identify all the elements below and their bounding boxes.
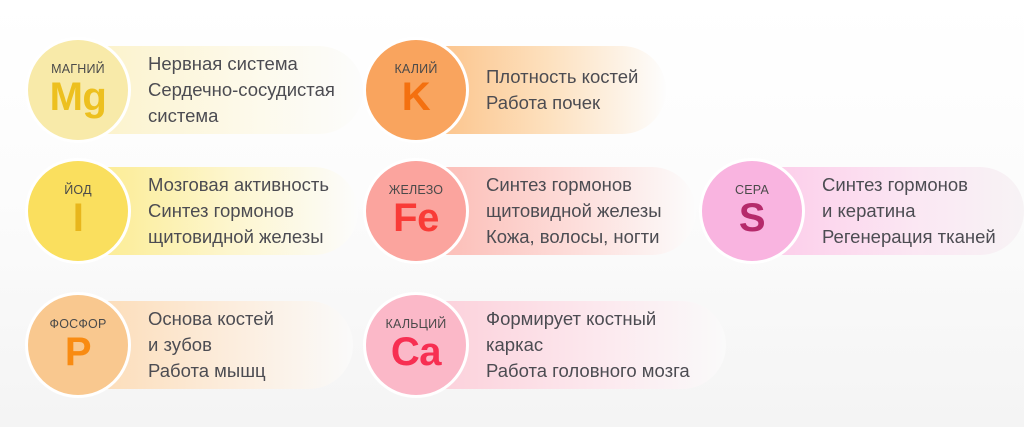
mineral-card-iron: ЖЕЛЕЗО Fe Синтез гормонов щитовидной жел… <box>366 161 662 261</box>
element-name: ЖЕЛЕЗО <box>389 184 443 197</box>
mineral-card-potassium: КАЛИЙ K Плотность костей Работа почек <box>366 40 638 140</box>
element-symbol: Ca <box>391 332 441 372</box>
benefit-line: Мозговая активность <box>148 172 329 198</box>
element-badge-iron: ЖЕЛЕЗО Fe <box>366 161 466 261</box>
element-symbol: P <box>65 332 91 372</box>
element-badge-magnesium: МАГНИЙ Mg <box>28 40 128 140</box>
benefit-list: Основа костей и зубов Работа мышц <box>148 306 274 385</box>
benefit-line: щитовидной железы <box>148 224 329 250</box>
benefit-line: Плотность костей <box>486 64 638 90</box>
element-symbol: S <box>739 198 765 238</box>
benefit-line: и кератина <box>822 198 996 224</box>
benefit-line: Формирует костный <box>486 306 690 332</box>
element-symbol: Mg <box>50 77 107 117</box>
mineral-card-sulfur: СЕРА S Синтез гормонов и кератина Регене… <box>702 161 996 261</box>
mineral-card-iodine: ЙОД I Мозговая активность Синтез гормоно… <box>28 161 329 261</box>
element-symbol: Fe <box>393 198 439 238</box>
benefit-list: Синтез гормонов и кератина Регенерация т… <box>822 172 996 251</box>
benefit-list: Синтез гормонов щитовидной железы Кожа, … <box>486 172 662 251</box>
element-name: ФОСФОР <box>49 318 106 331</box>
element-name: СЕРА <box>735 184 769 197</box>
element-symbol: I <box>73 198 84 238</box>
mineral-benefits-infographic: МАГНИЙ Mg Нервная система Сердечно-сосуд… <box>0 0 1024 427</box>
element-symbol: K <box>402 77 430 117</box>
mineral-card-magnesium: МАГНИЙ Mg Нервная система Сердечно-сосуд… <box>28 40 335 140</box>
benefit-line: Нервная система <box>148 51 335 77</box>
benefit-line: Работа почек <box>486 90 638 116</box>
benefit-line: Синтез гормонов <box>148 198 329 224</box>
benefit-line: Регенерация тканей <box>822 224 996 250</box>
benefit-line: Работа мышц <box>148 358 274 384</box>
element-badge-sulfur: СЕРА S <box>702 161 802 261</box>
benefit-line: Работа головного мозга <box>486 358 690 384</box>
benefit-line: Сердечно-сосудистая <box>148 77 335 103</box>
benefit-line: и зубов <box>148 332 274 358</box>
element-name: ЙОД <box>64 184 92 197</box>
element-badge-iodine: ЙОД I <box>28 161 128 261</box>
mineral-card-phosphorus: ФОСФОР P Основа костей и зубов Работа мы… <box>28 295 274 395</box>
benefit-list: Плотность костей Работа почек <box>486 64 638 117</box>
element-badge-potassium: КАЛИЙ K <box>366 40 466 140</box>
benefit-line: Основа костей <box>148 306 274 332</box>
mineral-card-calcium: КАЛЬЦИЙ Ca Формирует костный каркас Рабо… <box>366 295 690 395</box>
element-name: МАГНИЙ <box>51 63 105 76</box>
benefit-list: Нервная система Сердечно-сосудистая сист… <box>148 51 335 130</box>
benefit-line: Синтез гормонов <box>822 172 996 198</box>
element-badge-calcium: КАЛЬЦИЙ Ca <box>366 295 466 395</box>
element-badge-phosphorus: ФОСФОР P <box>28 295 128 395</box>
element-name: КАЛЬЦИЙ <box>386 318 447 331</box>
benefit-line: Синтез гормонов <box>486 172 662 198</box>
element-name: КАЛИЙ <box>394 63 437 76</box>
benefit-line: Кожа, волосы, ногти <box>486 224 662 250</box>
benefit-list: Мозговая активность Синтез гормонов щито… <box>148 172 329 251</box>
benefit-line: щитовидной железы <box>486 198 662 224</box>
benefit-line: каркас <box>486 332 690 358</box>
benefit-list: Формирует костный каркас Работа головног… <box>486 306 690 385</box>
benefit-line: система <box>148 103 335 129</box>
